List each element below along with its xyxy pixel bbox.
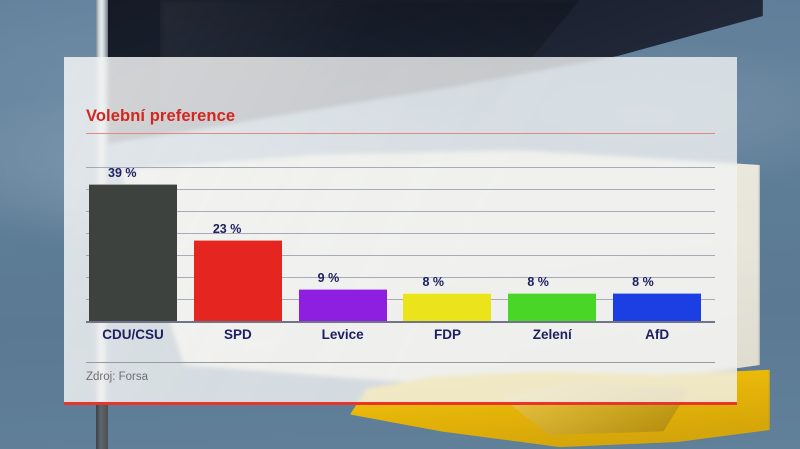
bar-value-label: 8 % [527,275,549,289]
bar-value-label: 39 % [108,166,137,180]
bar [613,293,701,321]
bar [89,184,177,321]
bar-group: 8 % [505,145,610,321]
bar-group: 8 % [610,145,715,321]
flag-pole-base [96,404,108,449]
x-axis-label-text: AfD [613,327,701,342]
x-axis-label-levice: Levice [296,327,401,342]
bar [403,293,491,321]
x-axis-label-text: FDP [403,327,491,342]
bar-value-label: 23 % [213,222,242,236]
source-label: Zdroj: Forsa [86,371,148,383]
x-axis-label-text: Zelení [508,327,596,342]
bar-chart: 39 %23 %9 %8 %8 %8 % [86,145,715,323]
source-divider [86,362,715,363]
bar-value-label: 9 % [318,271,340,285]
screenshot-stage: Volební preference 39 %23 %9 %8 %8 %8 % … [0,0,800,449]
title-underline [86,133,715,134]
x-axis-label-fdp: FDP [400,327,505,342]
page-title: Volební preference [86,107,235,126]
x-axis-label-spd: SPD [191,327,296,342]
x-axis-label-cdu-csu: CDU/CSU [86,327,191,342]
infographic-panel: Volební preference 39 %23 %9 %8 %8 %8 % … [64,57,737,405]
bar-group: 39 % [86,145,191,321]
bar [299,289,387,321]
bar [508,293,596,321]
chart-axis-baseline [86,321,715,323]
x-axis-label-afd: AfD [610,327,715,342]
x-axis-label-text: CDU/CSU [89,327,177,342]
bar-group: 8 % [400,145,505,321]
bar-value-label: 8 % [632,275,654,289]
bar-group: 9 % [296,145,401,321]
chart-bars: 39 %23 %9 %8 %8 %8 % [86,145,715,321]
x-axis-label-zelen-: Zelení [505,327,610,342]
bar [194,240,282,321]
x-axis-label-text: SPD [194,327,282,342]
bar-value-label: 8 % [422,275,444,289]
bar-group: 23 % [191,145,296,321]
x-axis-label-text: Levice [299,327,387,342]
chart-x-axis-labels: CDU/CSUSPDLeviceFDPZeleníAfD [86,327,715,342]
